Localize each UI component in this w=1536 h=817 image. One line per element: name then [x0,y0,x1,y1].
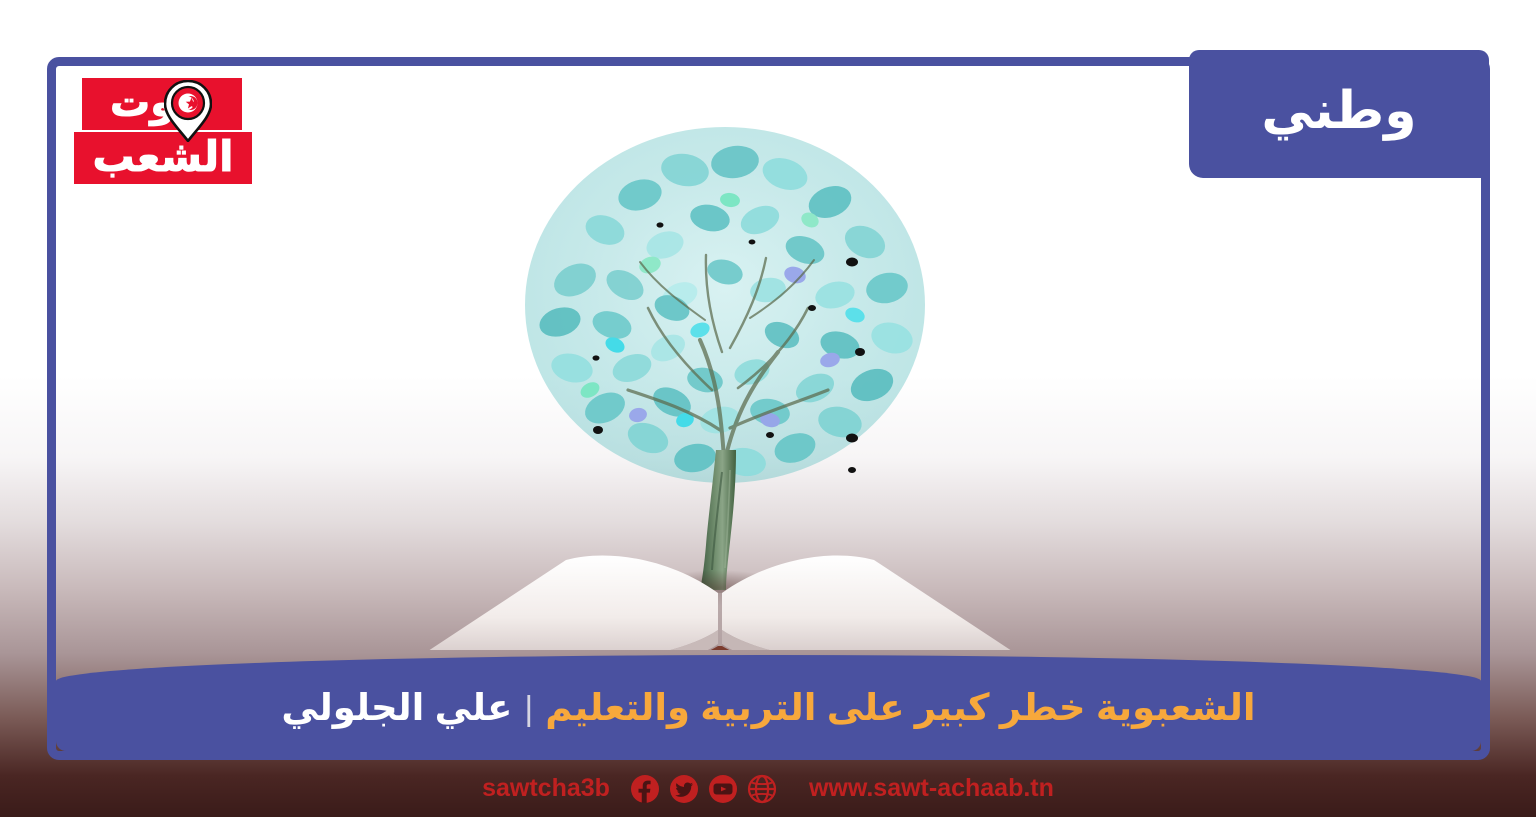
social-handle: sawtcha3b [482,774,610,803]
headline-text: الشعبوية خطر كبير على التربية والتعليم|ع… [281,688,1255,729]
globe-icon[interactable] [747,774,777,804]
poster-canvas: صوت الشعب وطني الشعبوية خطر كبير على الت… [0,0,1536,817]
headline-separator: | [512,690,545,728]
twitter-icon[interactable] [669,774,699,804]
youtube-icon[interactable] [708,774,738,804]
headline-main: الشعبوية خطر كبير على التربية والتعليم [545,687,1255,728]
logo-line2: الشعب [74,128,252,188]
tunisia-flag-pin [164,80,212,142]
logo-line1: صوت [82,76,242,132]
category-badge[interactable]: وطني [1189,50,1489,178]
headline-author: علي الجلولي [281,687,512,728]
website-url[interactable]: www.sawt-achaab.tn [809,774,1054,803]
facebook-icon[interactable] [630,774,660,804]
category-badge-label: وطني [1261,85,1416,137]
headline-bar: الشعبوية خطر كبير على التربية والتعليم|ع… [56,655,1481,751]
social-icons [630,774,777,804]
sawt-achaab-logo[interactable]: صوت الشعب [74,78,274,190]
footer-bar: sawtcha3b www.saw [0,760,1536,817]
